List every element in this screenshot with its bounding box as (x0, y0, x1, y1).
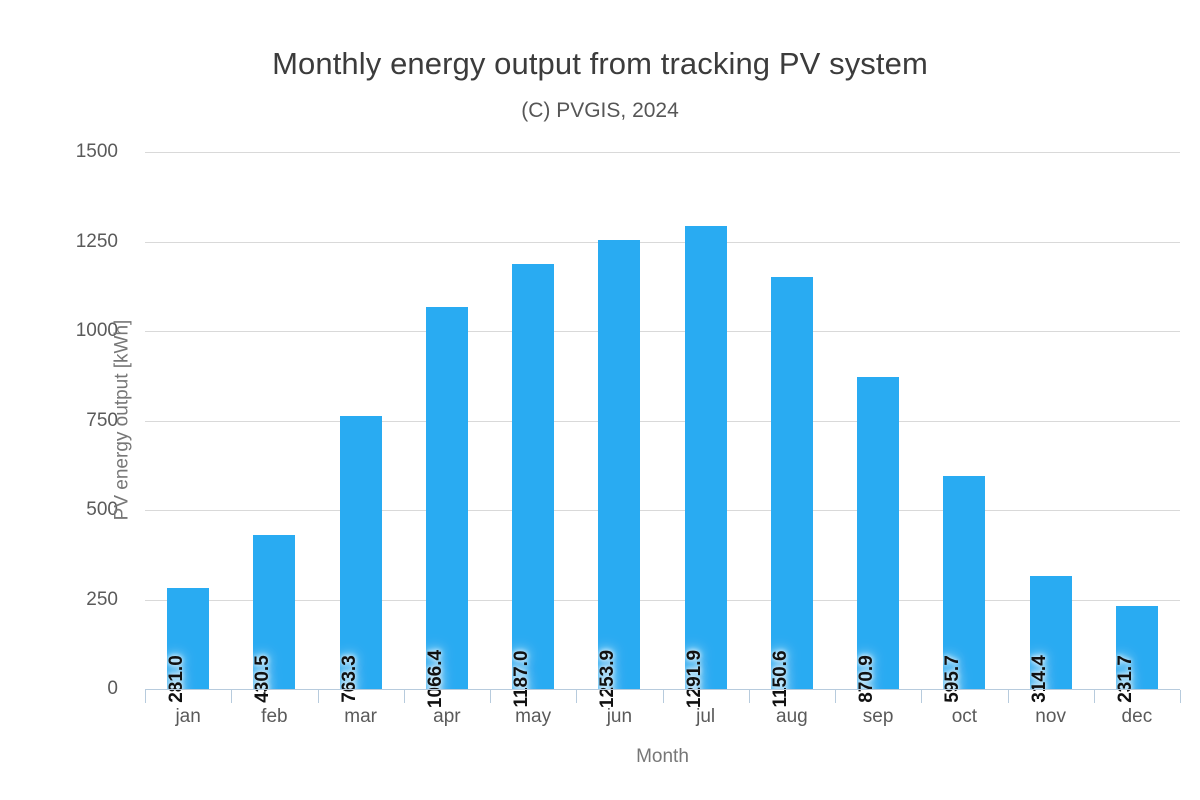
x-axis-tick (921, 690, 922, 703)
bar-value-label: 314.4 (1029, 655, 1051, 703)
x-axis-tick-label: jan (175, 706, 200, 728)
bar-value-label: 430.5 (252, 655, 274, 703)
bar-value-label: 231.7 (1115, 655, 1137, 703)
chart-subtitle: (C) PVGIS, 2024 (0, 99, 1200, 123)
x-axis-tick (145, 690, 146, 703)
gridline (145, 331, 1180, 332)
bar-value-label: 595.7 (942, 655, 964, 703)
bar[interactable]: 1291.9 (685, 226, 727, 689)
x-axis-tick (404, 690, 405, 703)
bar[interactable]: 1253.9 (598, 240, 640, 689)
bar[interactable]: 1187.0 (512, 264, 554, 689)
x-axis-tick-label: jul (696, 706, 715, 728)
y-axis-tick-label: 1250 (76, 231, 118, 253)
bar-value-label: 1187.0 (511, 650, 533, 707)
bar-value-label: 1291.9 (684, 650, 706, 708)
x-axis-tick (231, 690, 232, 703)
x-axis-tick (1180, 690, 1181, 703)
bar-value-label: 1253.9 (597, 650, 619, 708)
gridline (145, 152, 1180, 153)
gridline (145, 242, 1180, 243)
x-axis-tick (490, 690, 491, 703)
x-axis-tick-label: nov (1035, 706, 1066, 728)
x-axis-tick-label: apr (433, 706, 460, 728)
x-axis-tick-label: aug (776, 706, 808, 728)
x-axis-title: Month (145, 746, 1180, 768)
x-axis-tick-label: mar (344, 706, 377, 728)
x-axis-tick (835, 690, 836, 703)
x-axis-tick (1008, 690, 1009, 703)
x-axis-tick (749, 690, 750, 703)
x-axis-tick (318, 690, 319, 703)
bar-chart: Monthly energy output from tracking PV s… (0, 0, 1200, 800)
x-axis-tick (663, 690, 664, 703)
y-axis-tick-label: 250 (86, 589, 118, 611)
x-axis-tick-label: dec (1122, 706, 1153, 728)
chart-title: Monthly energy output from tracking PV s… (0, 46, 1200, 82)
bar[interactable]: 231.7 (1116, 606, 1158, 689)
x-axis-tick-label: feb (261, 706, 287, 728)
bar[interactable]: 1150.6 (771, 277, 813, 689)
bar-value-label: 281.0 (166, 655, 188, 703)
x-axis-tick (576, 690, 577, 703)
y-axis-tick-label: 1500 (76, 141, 118, 163)
gridline (145, 510, 1180, 511)
gridline (145, 600, 1180, 601)
y-axis-tick-label: 0 (107, 678, 118, 700)
bar[interactable]: 870.9 (857, 377, 899, 689)
x-axis-tick-label: jun (607, 706, 632, 728)
x-axis-tick (1094, 690, 1095, 703)
bar[interactable]: 314.4 (1030, 576, 1072, 689)
bar-value-label: 763.3 (339, 655, 361, 703)
bar-value-label: 870.9 (856, 655, 878, 703)
x-axis-tick-label: may (515, 706, 551, 728)
bar-value-label: 1150.6 (770, 650, 792, 707)
bar-value-label: 1066.4 (425, 650, 447, 708)
bar[interactable]: 595.7 (943, 476, 985, 689)
y-axis-title: PV energy output [kWh] (111, 320, 133, 521)
plot-area: 281.0430.5763.31066.41187.01253.91291.91… (145, 152, 1180, 689)
gridline (145, 421, 1180, 422)
bar[interactable]: 1066.4 (426, 307, 468, 689)
x-axis-tick-label: oct (952, 706, 977, 728)
bar[interactable]: 763.3 (340, 416, 382, 689)
x-axis-tick-label: sep (863, 706, 894, 728)
bar[interactable]: 281.0 (167, 588, 209, 689)
bar[interactable]: 430.5 (253, 535, 295, 689)
